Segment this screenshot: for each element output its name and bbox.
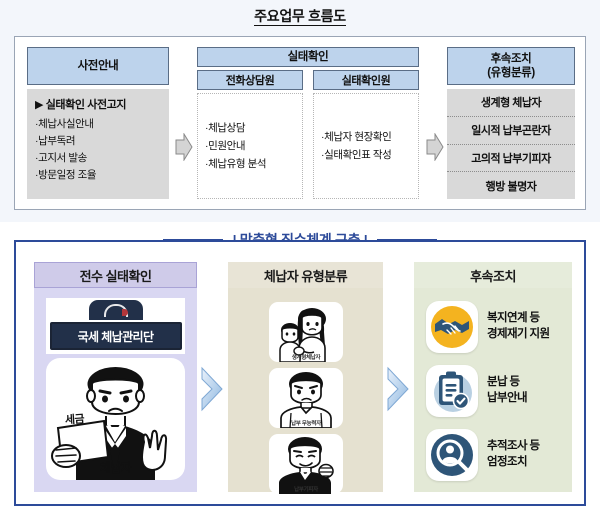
action-text-welfare: 복지연계 등 경제재기 지원 — [487, 311, 549, 342]
followup-type-item: 생계형 체납자 — [447, 89, 575, 117]
handshake-icon-wrapper — [426, 301, 478, 353]
type-card-unable-to-pay: 납부 무능력자 — [269, 368, 343, 428]
action-row-welfare: 복지연계 등 경제재기 지원 — [426, 298, 562, 356]
followup-head-line2: (유형분류) — [487, 66, 535, 80]
sign-emblem-icon — [104, 304, 128, 317]
collection-system-frame: 전수 실태확인 국세 체납관리단 — [14, 240, 586, 506]
agency-sign: 국세 체납관리단 — [46, 298, 185, 354]
column-body-field-surveyor: ·체납자 현장확인 ·실태확인표 작성 — [313, 93, 419, 199]
panel-header-full-survey: 전수 실태확인 — [34, 262, 197, 288]
action-line1: 추적조사 등 — [487, 439, 540, 455]
agency-sign-text: 국세 체납관리단 — [50, 322, 182, 350]
collection-system-section: | 맞춤형 징수체계 구축 | 전수 실태확인 국세 체납관리단 — [0, 222, 600, 516]
flow-arrow-right-icon — [175, 133, 193, 166]
panel-followup-actions: 후속조치 복지연계 등 경제재기 지원 — [414, 262, 572, 492]
phone-counselor-item: ·체납유형 분석 — [205, 155, 266, 173]
followup-type-item: 일시적 납부곤란자 — [447, 117, 575, 145]
panel-taxpayer-classification: 체납자 유형분류 — [228, 262, 383, 492]
followup-type-item: 고의적 납부기피자 — [447, 145, 575, 173]
clipboard-check-icon — [429, 368, 475, 414]
field-surveyor-item: ·체납자 현장확인 — [321, 128, 391, 146]
pre-notice-lead: ▶ 실태확인 사전고지 — [35, 96, 169, 112]
flow-arrow-right-icon — [426, 133, 444, 166]
action-line1: 복지연계 등 — [487, 311, 549, 327]
column-body-pre-notice: ▶ 실태확인 사전고지 ·체납사실안내 ·납부독려 ·고지서 발송 ·방문일정 … — [27, 89, 169, 199]
panel-full-survey: 전수 실태확인 국세 체납관리단 — [34, 262, 197, 492]
panel-header-classification: 체납자 유형분류 — [228, 262, 383, 288]
action-text-investigation: 추적조사 등 엄정조치 — [487, 439, 540, 470]
type-card-evader: 납부기피자 — [269, 434, 343, 494]
column-header-followup: 후속조치 (유형분류) — [447, 47, 575, 85]
delinquent-taxpayer-illustration: 세금 체납자 — [46, 358, 185, 480]
action-line2: 경제재기 지원 — [487, 327, 549, 343]
action-line2: 엄정조치 — [487, 455, 540, 471]
chevron-right-arrow-icon — [385, 366, 411, 417]
chevron-right-arrow-icon — [199, 366, 225, 417]
phone-counselor-item: ·체납상담 — [205, 119, 266, 137]
pre-notice-item: ·방문일정 조율 — [35, 167, 169, 184]
process-flow-section: 주요업무 흐름도 사전안내 ▶ 실태확인 사전고지 ·체납사실안내 ·납부독려 … — [0, 0, 600, 222]
type-label: 생계형체납자 — [269, 353, 343, 361]
pre-notice-item: ·체납사실안내 — [35, 116, 169, 133]
action-row-installment: 분납 등 납부안내 — [426, 362, 562, 420]
followup-type-item: 행방 불명자 — [447, 172, 575, 199]
action-line1: 분납 등 — [487, 375, 527, 391]
magnifier-person-icon-wrapper — [426, 429, 478, 481]
type-label: 납부 무능력자 — [269, 419, 343, 427]
page-title: 주요업무 흐름도 — [0, 6, 600, 26]
pre-notice-item: ·납부독려 — [35, 133, 169, 150]
type-label: 납부기피자 — [269, 485, 343, 493]
column-header-pre-notice: 사전안내 — [27, 47, 169, 85]
panel-header-followup-actions: 후속조치 — [414, 262, 572, 288]
phone-counselor-item: ·민원안내 — [205, 137, 266, 155]
action-line2: 납부안내 — [487, 391, 527, 407]
sub-header-field-surveyor: 실태확인원 — [313, 70, 419, 90]
clipboard-check-icon-wrapper — [426, 365, 478, 417]
type-card-livelihood: 생계형체납자 — [269, 302, 343, 362]
handshake-icon — [429, 304, 475, 350]
sub-header-phone-counselor: 전화상담원 — [197, 70, 303, 90]
action-row-investigation: 추적조사 등 엄정조치 — [426, 426, 562, 484]
flow-diagram-frame: 사전안내 ▶ 실태확인 사전고지 ·체납사실안내 ·납부독려 ·고지서 발송 ·… — [14, 36, 586, 210]
action-text-installment: 분납 등 납부안내 — [487, 375, 527, 406]
column-body-followup: 생계형 체납자 일시적 납부곤란자 고의적 납부기피자 행방 불명자 — [447, 89, 575, 199]
field-surveyor-item: ·실태확인표 작성 — [321, 146, 391, 164]
magnifier-person-icon — [429, 432, 475, 478]
tax-paper-label: 세금 — [64, 410, 84, 427]
portrait-caption: 체납자 — [46, 459, 185, 476]
followup-head-line1: 후속조치 — [487, 52, 535, 66]
pre-notice-item: ·고지서 발송 — [35, 150, 169, 167]
column-body-phone-counselor: ·체납상담 ·민원안내 ·체납유형 분석 — [197, 93, 303, 199]
column-header-survey: 실태확인 — [197, 47, 419, 67]
